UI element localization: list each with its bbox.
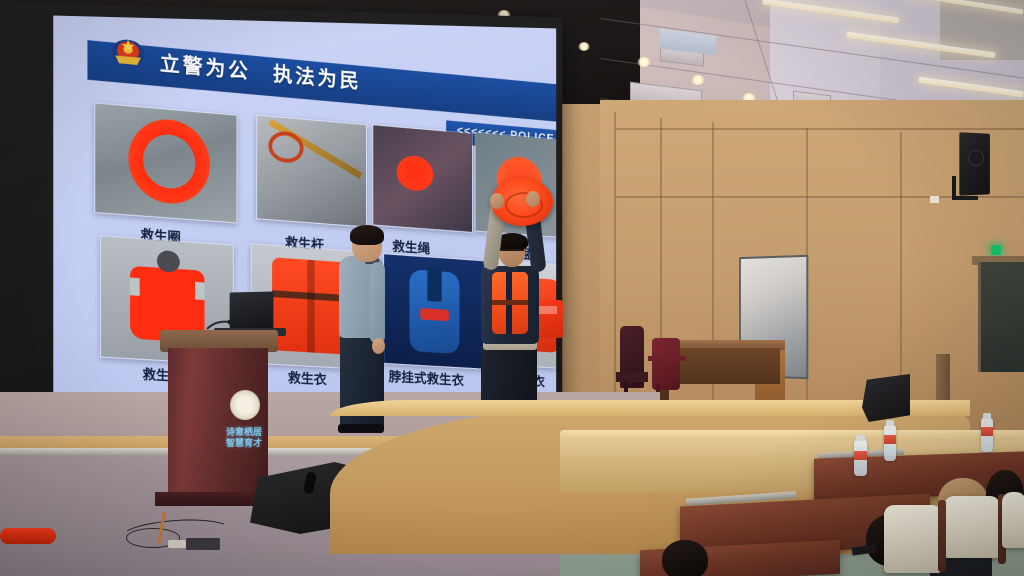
audience-head bbox=[662, 540, 708, 576]
conference-hall-photo: 立警为公 执法为民 <<<<<<< POLICE 救生圈 救生杆 bbox=[0, 0, 1024, 576]
wall-seam bbox=[616, 128, 1024, 130]
rescue-buoy-icon bbox=[0, 528, 56, 544]
ceiling-downlight bbox=[691, 75, 705, 85]
equipment-case-label bbox=[537, 306, 557, 314]
bottle-cap bbox=[856, 435, 865, 441]
ceiling-downlight bbox=[637, 57, 651, 67]
officer-hair bbox=[350, 225, 384, 245]
life-vest-strap bbox=[492, 300, 528, 305]
slide-title: 立警为公 执法为民 bbox=[160, 48, 526, 118]
chair-icon bbox=[652, 338, 680, 390]
green-indicator-icon bbox=[991, 245, 1001, 255]
chair-seat bbox=[616, 372, 648, 382]
wall-seam bbox=[614, 112, 616, 412]
officer-hand bbox=[372, 338, 385, 354]
slide-caption-7: 脖挂式救生衣 bbox=[389, 367, 464, 390]
ceiling-downlight bbox=[578, 42, 590, 51]
bottle-cap bbox=[886, 420, 894, 426]
power-plug bbox=[168, 540, 186, 548]
demonstrator-hand-left bbox=[490, 193, 504, 209]
slide-photo-rescue-rope bbox=[372, 124, 473, 233]
bottle-label bbox=[981, 427, 993, 436]
audience-chair bbox=[884, 505, 942, 573]
audience-chair bbox=[1002, 492, 1024, 548]
podium bbox=[168, 348, 268, 498]
speaker-bracket bbox=[952, 176, 978, 200]
glasses-icon bbox=[499, 249, 524, 256]
officer-arm bbox=[370, 262, 385, 344]
slide-photo-life-buoy bbox=[94, 102, 237, 223]
demonstrator-hand-right bbox=[526, 191, 540, 207]
slide-photo-rescue-pole bbox=[256, 115, 367, 228]
institution-seal-icon bbox=[230, 390, 260, 420]
laptop-icon[interactable] bbox=[230, 292, 274, 333]
side-door[interactable] bbox=[978, 262, 1024, 372]
bottle-label bbox=[854, 451, 867, 460]
podium-motto-line2: 智慧育才 bbox=[214, 439, 274, 450]
wall-outlet bbox=[930, 196, 939, 203]
speaker-cone-icon bbox=[968, 150, 984, 166]
podium-motto-line1: 诗意栖居 bbox=[214, 428, 274, 439]
floor-speaker-icon bbox=[862, 374, 910, 422]
slide-caption-6: 救生衣 bbox=[288, 368, 327, 389]
audience-wall-cap bbox=[560, 430, 1024, 440]
chair-frame bbox=[938, 500, 946, 572]
podium-motto: 诗意栖居 智慧育才 bbox=[214, 428, 274, 450]
audience-chair bbox=[944, 496, 1000, 558]
officer-shoes bbox=[338, 424, 384, 433]
bottle-label bbox=[884, 435, 896, 444]
police-badge-icon bbox=[110, 32, 147, 73]
bottle-cap bbox=[983, 413, 991, 419]
slide-photo-neck-life-vest bbox=[383, 253, 485, 370]
floor-box bbox=[186, 538, 220, 550]
chair-armrest bbox=[648, 356, 686, 361]
